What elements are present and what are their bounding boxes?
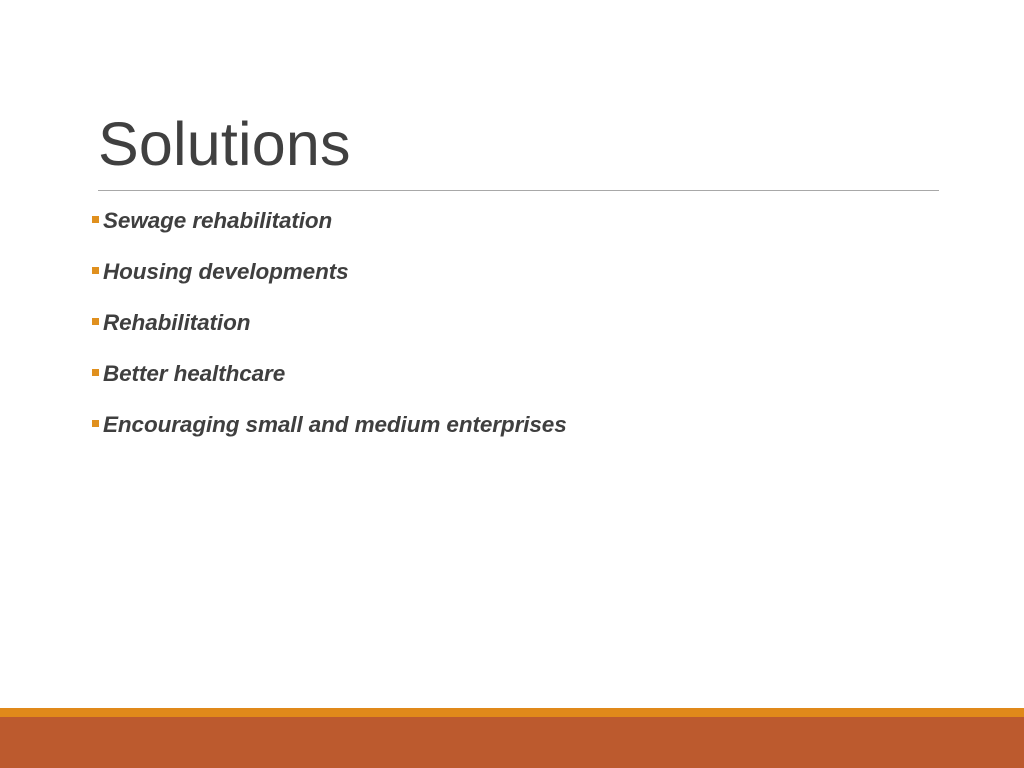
title-divider-rule bbox=[98, 190, 939, 191]
list-item: Sewage rehabilitation bbox=[92, 208, 952, 259]
list-item: Rehabilitation bbox=[92, 310, 952, 361]
list-item-label: Better healthcare bbox=[103, 361, 285, 387]
square-bullet-icon bbox=[92, 420, 99, 427]
page-title: Solutions bbox=[98, 108, 939, 180]
list-item: Better healthcare bbox=[92, 361, 952, 412]
list-item-label: Sewage rehabilitation bbox=[103, 208, 332, 234]
square-bullet-icon bbox=[92, 318, 99, 325]
square-bullet-icon bbox=[92, 267, 99, 274]
square-bullet-icon bbox=[92, 369, 99, 376]
title-block: Solutions bbox=[98, 108, 939, 180]
list-item: Encouraging small and medium enterprises bbox=[92, 412, 952, 463]
footer-accent-stripe-amber bbox=[0, 708, 1024, 717]
list-item-label: Housing developments bbox=[103, 259, 349, 285]
list-item: Housing developments bbox=[92, 259, 952, 310]
square-bullet-icon bbox=[92, 216, 99, 223]
list-item-label: Encouraging small and medium enterprises bbox=[103, 412, 567, 438]
footer-accent-band-rust bbox=[0, 717, 1024, 768]
list-item-label: Rehabilitation bbox=[103, 310, 250, 336]
bullet-list: Sewage rehabilitation Housing developmen… bbox=[92, 208, 952, 463]
slide-canvas: Solutions Sewage rehabilitation Housing … bbox=[0, 0, 1024, 768]
